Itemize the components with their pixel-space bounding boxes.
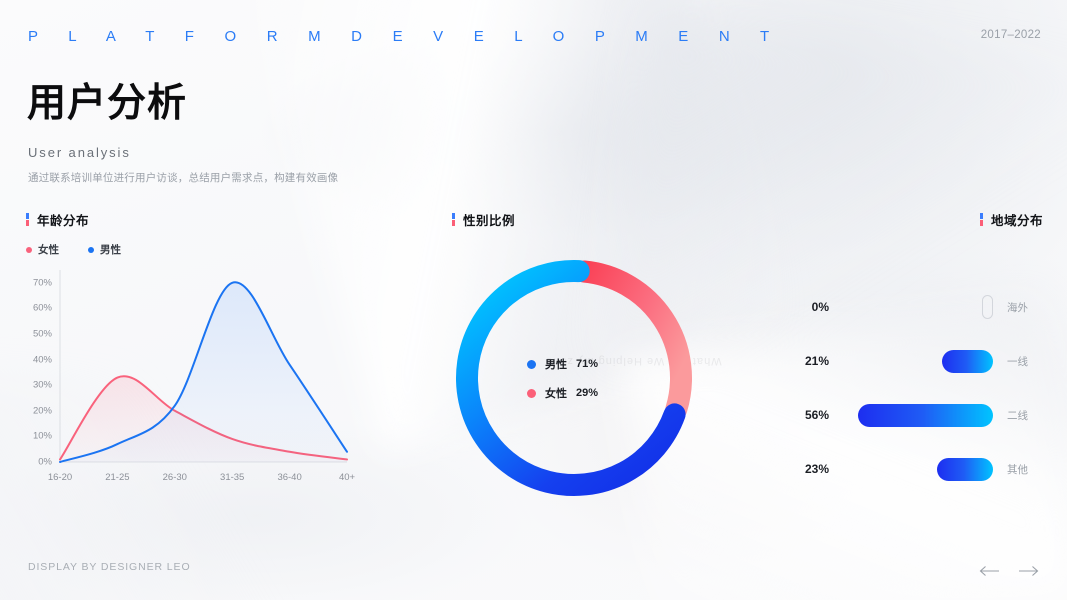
- legend-item-male: 男性: [88, 242, 121, 257]
- region-bar-label: 其他: [1007, 462, 1045, 477]
- y-axis-tick-label: 50%: [18, 329, 52, 340]
- slide-navigation: [979, 565, 1039, 577]
- legend-value: 29%: [576, 387, 598, 399]
- y-axis-tick-label: 60%: [18, 303, 52, 314]
- legend-dot-icon: [527, 360, 536, 369]
- section-marker-icon: [26, 213, 29, 226]
- region-bar-value: 0%: [785, 300, 829, 314]
- y-axis-tick-label: 70%: [18, 277, 52, 288]
- legend-dot-icon: [88, 247, 94, 253]
- age-distribution-chart: 0%10%20%30%40%50%60%70% 16-2021-2526-303…: [22, 262, 362, 492]
- region-bar-row: 0%海外: [745, 280, 1045, 334]
- page-subtitle: User analysis: [28, 145, 131, 160]
- x-axis-tick-label: 21-25: [105, 472, 129, 483]
- age-chart-legend: 女性 男性: [26, 242, 121, 257]
- region-bar-fill[interactable]: [942, 350, 993, 373]
- legend-item-female: 女性: [26, 242, 59, 257]
- donut-legend: 男性 71% 女性 29%: [527, 356, 598, 401]
- y-axis-tick-label: 0%: [18, 457, 52, 468]
- x-axis-tick-label: 26-30: [163, 472, 187, 483]
- region-bar-row: 21%一线: [745, 334, 1045, 388]
- section-title-label: 年龄分布: [37, 210, 89, 229]
- region-bar-label: 海外: [1007, 300, 1045, 315]
- y-axis-tick-label: 20%: [18, 405, 52, 416]
- x-axis-tick-label: 40+: [339, 472, 355, 483]
- y-axis-tick-label: 10%: [18, 431, 52, 442]
- arrow-right-icon[interactable]: [1017, 565, 1039, 577]
- page-title: 用户分析: [27, 84, 187, 123]
- region-bar-track: [841, 350, 993, 373]
- legend-label: 女性: [38, 242, 59, 257]
- region-bar-row: 23%其他: [745, 442, 1045, 496]
- section-title-label: 地域分布: [991, 210, 1043, 229]
- footer-credit: DISPLAY BY DESIGNER LEO: [28, 561, 191, 573]
- region-bar-track: [841, 404, 993, 427]
- region-bar-track: [841, 458, 993, 481]
- section-marker-icon: [980, 213, 983, 226]
- legend-label: 男性: [100, 242, 121, 257]
- legend-label: 女性: [545, 385, 567, 401]
- donut-legend-item-male: 男性 71%: [527, 356, 598, 372]
- region-bar-track: [841, 295, 993, 319]
- region-bar-fill[interactable]: [858, 404, 993, 427]
- region-bar-fill[interactable]: [937, 458, 993, 481]
- region-bar-row: 56%二线: [745, 388, 1045, 442]
- legend-label: 男性: [545, 356, 567, 372]
- legend-value: 71%: [576, 358, 598, 370]
- y-axis-tick-label: 30%: [18, 380, 52, 391]
- donut-legend-item-female: 女性 29%: [527, 385, 598, 401]
- arrow-left-icon[interactable]: [979, 565, 1001, 577]
- y-axis-tick-label: 40%: [18, 354, 52, 365]
- region-bar-label: 一线: [1007, 354, 1045, 369]
- section-heading-age: 年龄分布: [26, 210, 89, 229]
- x-axis-tick-label: 31-35: [220, 472, 244, 483]
- section-heading-gender: 性别比例: [452, 210, 515, 229]
- region-bar-fill[interactable]: [982, 295, 993, 319]
- section-heading-region: 地域分布: [980, 210, 1043, 229]
- region-bar-value: 23%: [785, 462, 829, 476]
- legend-dot-icon: [26, 247, 32, 253]
- region-bar-label: 二线: [1007, 408, 1045, 423]
- section-marker-icon: [452, 213, 455, 226]
- section-title-label: 性别比例: [463, 210, 515, 229]
- region-bar-value: 56%: [785, 408, 829, 422]
- age-chart-svg: [22, 262, 362, 492]
- slide-root: What Are We Helping My zone P L A T F O …: [0, 0, 1067, 600]
- x-axis-tick-label: 36-40: [277, 472, 301, 483]
- page-description: 通过联系培训单位进行用户访谈，总结用户需求点，构建有效画像: [28, 170, 338, 185]
- slide-eyebrow: P L A T F O R M D E V E L O P M E N T: [28, 28, 782, 45]
- x-axis-tick-label: 16-20: [48, 472, 72, 483]
- region-distribution-chart: 0%海外21%一线56%二线23%其他: [745, 280, 1045, 496]
- slide-period: 2017–2022: [981, 29, 1041, 41]
- legend-dot-icon: [527, 389, 536, 398]
- region-bar-value: 21%: [785, 354, 829, 368]
